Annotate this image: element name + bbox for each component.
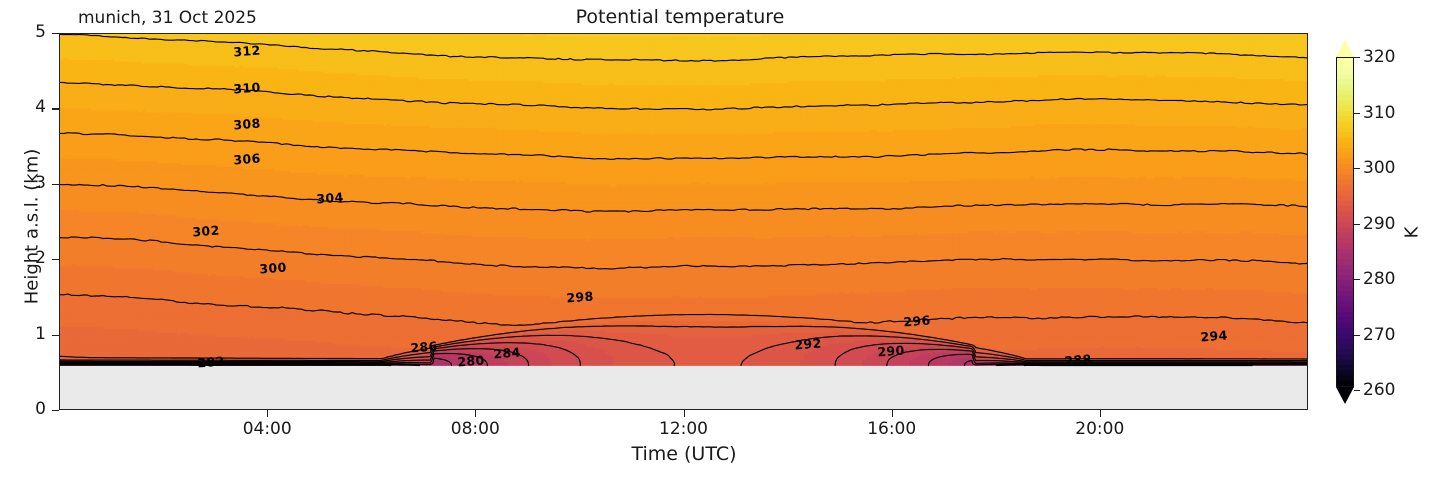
colorbar-tick <box>1354 168 1360 169</box>
x-axis-tick-label: 16:00 <box>867 419 916 439</box>
colorbar-tick-label: 270 <box>1363 325 1395 345</box>
colorbar-tick-label: 310 <box>1363 103 1395 123</box>
x-axis-tick-label: 08:00 <box>451 419 500 439</box>
y-axis-tick <box>52 33 59 34</box>
y-axis-tick <box>52 335 59 336</box>
contour-line <box>997 365 1307 366</box>
colorbar-tick <box>1354 279 1360 280</box>
x-axis-tick-label: 20:00 <box>1075 419 1124 439</box>
colorbar-tick-label: 300 <box>1363 158 1395 178</box>
x-axis-tick-label: 04:00 <box>243 419 292 439</box>
contour-label: 298 <box>565 288 593 305</box>
page-title: Potential temperature <box>0 6 1360 28</box>
colorbar-label: K <box>1402 173 1423 293</box>
x-axis-tick <box>892 410 893 417</box>
contour-label: 296 <box>903 312 931 329</box>
colorbar-tick-label: 320 <box>1363 47 1395 67</box>
contour-label: 312 <box>233 42 261 59</box>
colorbar-extend-bottom-arrow <box>1336 387 1354 404</box>
colorbar-tick-label: 260 <box>1363 380 1395 400</box>
colorbar-tick-label: 290 <box>1363 214 1395 234</box>
y-axis-tick <box>52 410 59 411</box>
colorbar[interactable] <box>1336 40 1354 404</box>
y-axis-tick-label: 5 <box>35 22 46 42</box>
contour-label: 308 <box>233 116 261 133</box>
contour-label: 284 <box>493 344 521 361</box>
x-axis-label: Time (UTC) <box>0 443 1368 465</box>
colorbar-gradient <box>1336 57 1354 387</box>
figure-canvas: munich, 31 Oct 2025 Potential temperatur… <box>0 0 1429 478</box>
colorbar-extend-top-arrow <box>1336 40 1354 57</box>
x-axis-tick <box>475 410 476 417</box>
y-axis-tick-label: 4 <box>35 97 46 117</box>
contour-label: 290 <box>877 343 905 360</box>
contour-label: 288 <box>1064 351 1092 368</box>
y-axis-tick-label: 2 <box>35 248 46 268</box>
y-axis-tick <box>52 184 59 185</box>
contour-label: 302 <box>191 222 219 239</box>
y-axis-tick-label: 3 <box>35 173 46 193</box>
contour-label: 310 <box>233 80 261 97</box>
contour-label: 304 <box>316 189 344 206</box>
contour-label: 286 <box>410 338 438 355</box>
contour-label: 280 <box>456 353 484 370</box>
contour-label: 282 <box>197 353 225 370</box>
y-axis-tick-label: 0 <box>35 399 46 419</box>
colorbar-tick <box>1354 113 1360 114</box>
contour-label: 292 <box>794 335 822 352</box>
contour-label: 306 <box>233 151 261 168</box>
contour-label: 294 <box>1199 327 1227 344</box>
colorbar-tick <box>1354 390 1360 391</box>
colorbar-tick <box>1354 224 1360 225</box>
x-axis-tick <box>1100 410 1101 417</box>
colorbar-tick <box>1354 57 1360 58</box>
y-axis-tick-label: 1 <box>35 324 46 344</box>
colorbar-tick <box>1354 335 1360 336</box>
y-axis-tick <box>52 108 59 109</box>
x-axis-tick <box>684 410 685 417</box>
y-axis-tick <box>52 259 59 260</box>
x-axis-tick-label: 12:00 <box>659 419 708 439</box>
colorbar-tick-label: 280 <box>1363 269 1395 289</box>
x-axis-tick <box>267 410 268 417</box>
y-axis-label: Height a.s.l. (km) <box>22 107 43 347</box>
contour-label: 300 <box>259 260 287 277</box>
